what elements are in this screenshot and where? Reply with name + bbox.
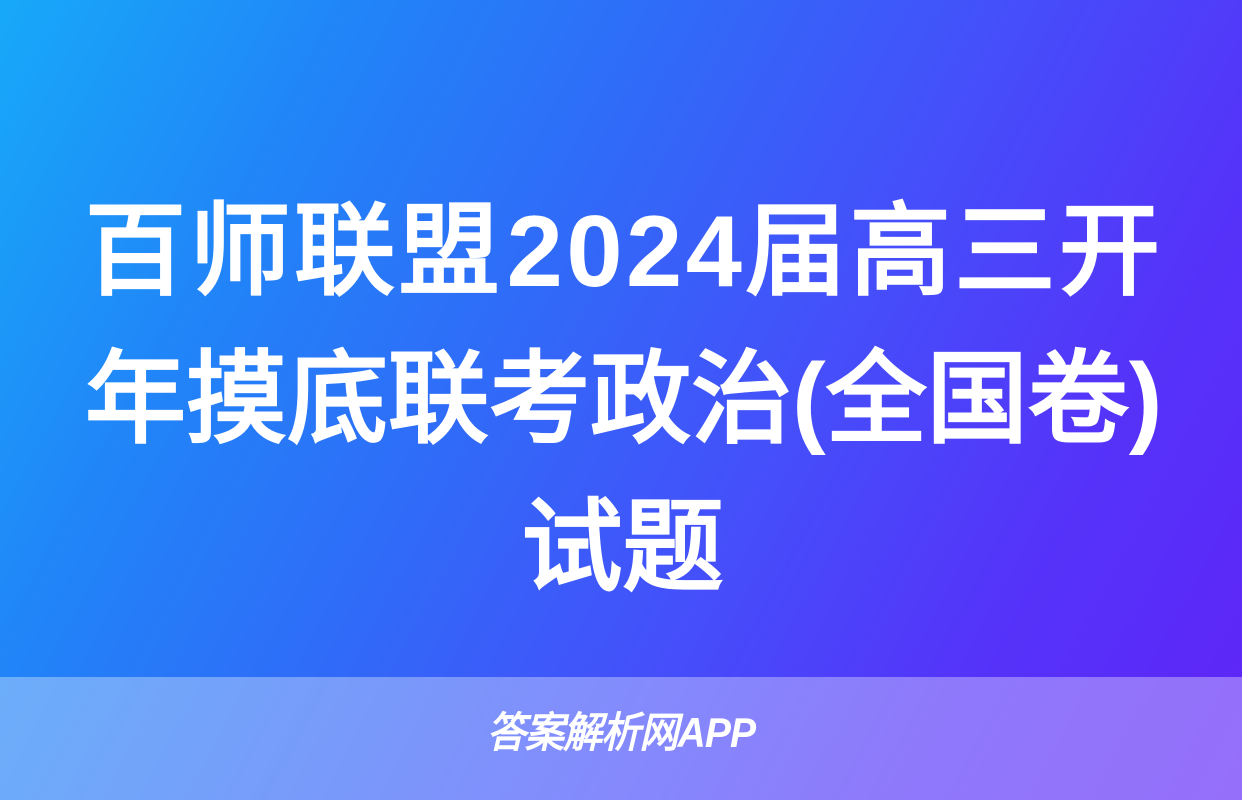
title-char: 百 bbox=[85, 178, 186, 326]
title-char: 底 bbox=[287, 326, 388, 474]
title-char: 盟 bbox=[399, 178, 500, 326]
title-char: 4 bbox=[686, 178, 742, 326]
title-char: 2 bbox=[507, 178, 563, 326]
title-char: 国 bbox=[927, 326, 1028, 474]
title-char: 三 bbox=[954, 178, 1055, 326]
page-title: 百 师 联 盟 2 0 2 4 届 高 三 开 年 摸 底 联 考 政 治 ( … bbox=[85, 178, 1160, 622]
title-char: 全 bbox=[826, 326, 927, 474]
title-char: 联 bbox=[294, 178, 395, 326]
title-line-1: 百 师 联 盟 2 0 2 4 届 高 三 开 bbox=[85, 178, 1160, 326]
title-char: 师 bbox=[190, 178, 291, 326]
title-char: 高 bbox=[850, 178, 951, 326]
title-card: 百 师 联 盟 2 0 2 4 届 高 三 开 年 摸 底 联 考 政 治 ( … bbox=[0, 0, 1242, 800]
title-char: 政 bbox=[590, 326, 691, 474]
title-char: 0 bbox=[566, 178, 622, 326]
footer-band: 答案解析网APP bbox=[0, 677, 1242, 800]
title-line-2: 年 摸 底 联 考 政 治 ( 全 国 卷 ) bbox=[85, 326, 1160, 474]
title-char: 开 bbox=[1059, 178, 1160, 326]
title-char: 年 bbox=[85, 326, 186, 474]
title-char: ) bbox=[1129, 326, 1163, 474]
title-char: 联 bbox=[388, 326, 489, 474]
title-char: ( bbox=[792, 326, 826, 474]
app-watermark: 答案解析网APP bbox=[43, 709, 1198, 757]
title-char: 卷 bbox=[1028, 326, 1129, 474]
title-char: 摸 bbox=[186, 326, 287, 474]
title-char: 2 bbox=[626, 178, 682, 326]
title-char: 治 bbox=[691, 326, 792, 474]
title-char: 考 bbox=[489, 326, 590, 474]
title-char: 届 bbox=[745, 178, 846, 326]
title-line-3: 试题 bbox=[85, 474, 1160, 622]
